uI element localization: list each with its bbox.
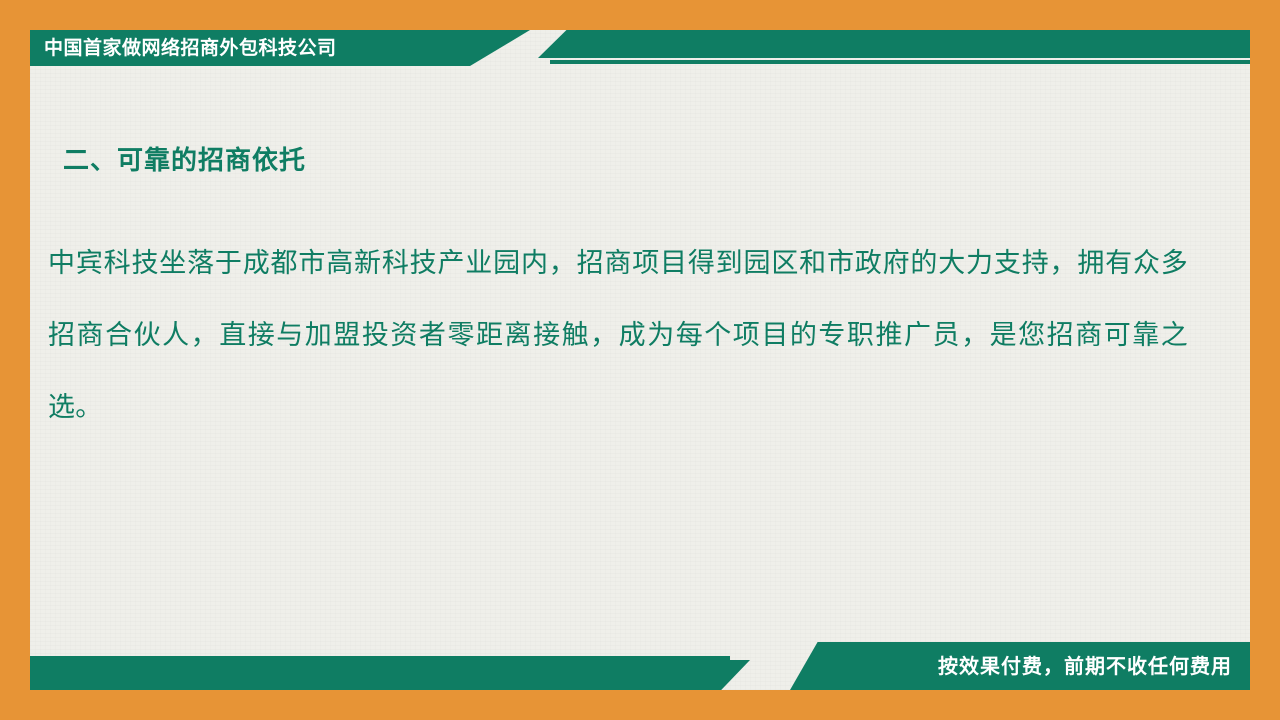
- section-heading: 二、可靠的招商依托: [63, 140, 306, 177]
- body-paragraph: 中宾科技坐落于成都市高新科技产业园内，招商项目得到园区和市政府的大力支持，拥有众…: [48, 228, 1188, 444]
- header-green-strip: [550, 60, 1250, 64]
- footer-tagline: 按效果付费，前期不收任何费用: [938, 650, 1232, 679]
- presentation-slide: 中国首家做网络招商外包科技公司 二、可靠的招商依托 中宾科技坐落于成都市高新科技…: [0, 0, 1280, 720]
- header-green-shape-right: [538, 30, 1250, 58]
- footer-green-shape-left: [30, 660, 750, 690]
- footer-green-strip: [30, 656, 730, 660]
- header-title: 中国首家做网络招商外包科技公司: [44, 36, 504, 62]
